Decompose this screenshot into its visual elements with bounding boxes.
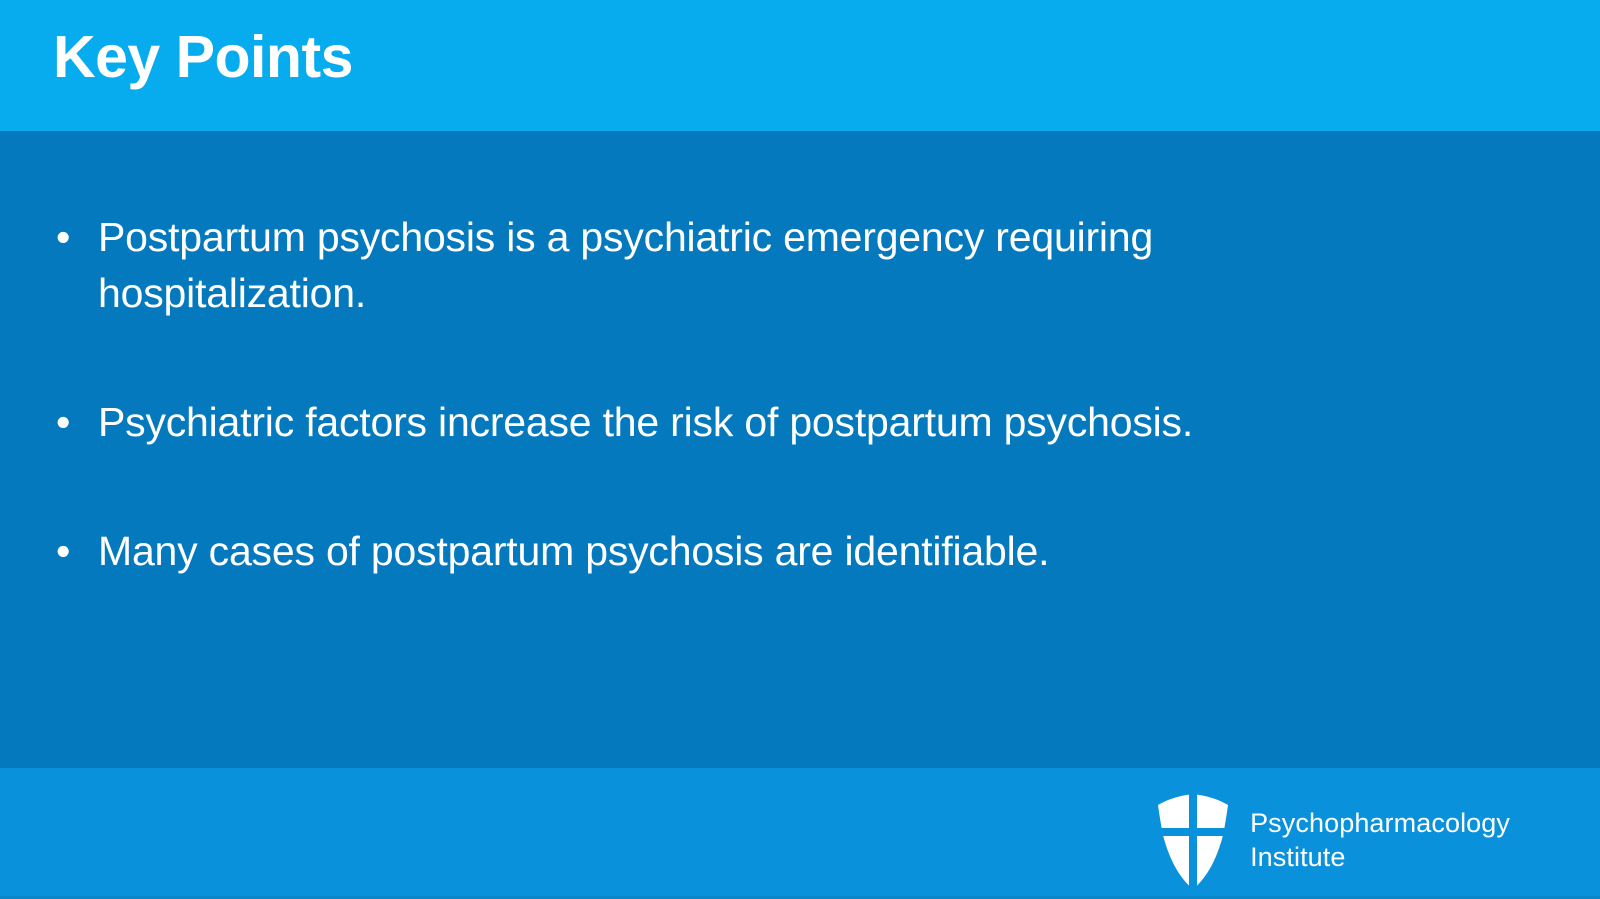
brand-logo: Psychopharmacology Institute [1156, 782, 1510, 888]
shield-logo-icon [1156, 792, 1230, 888]
slide: Key Points • Postpartum psychosis is a p… [0, 0, 1600, 899]
list-item: • Many cases of postpartum psychosis are… [50, 523, 1550, 579]
slide-body: • Postpartum psychosis is a psychiatric … [0, 131, 1600, 768]
slide-footer-band: Psychopharmacology Institute [0, 768, 1600, 899]
slide-header-band: Key Points [0, 0, 1600, 131]
list-item-text: Postpartum psychosis is a psychiatric em… [98, 209, 1353, 321]
list-item: • Psychiatric factors increase the risk … [50, 394, 1550, 450]
brand-name-line1: Psychopharmacology [1250, 808, 1510, 838]
brand-name-line2: Institute [1250, 840, 1510, 874]
bullet-marker-icon: • [50, 394, 98, 450]
key-points-list: • Postpartum psychosis is a psychiatric … [50, 209, 1550, 579]
page-title: Key Points [53, 28, 353, 87]
brand-name: Psychopharmacology Institute [1250, 806, 1510, 874]
bullet-marker-icon: • [50, 209, 98, 265]
bullet-marker-icon: • [50, 523, 98, 579]
list-item-text: Psychiatric factors increase the risk of… [98, 394, 1353, 450]
list-item-text: Many cases of postpartum psychosis are i… [98, 523, 1353, 579]
list-item: • Postpartum psychosis is a psychiatric … [50, 209, 1550, 321]
